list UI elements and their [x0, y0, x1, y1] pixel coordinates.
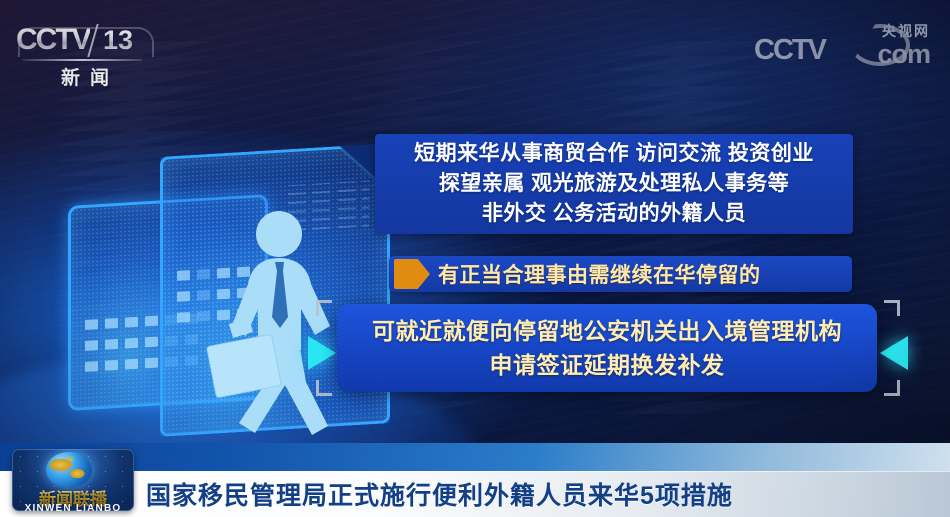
cctv-com-domain: com — [877, 39, 930, 70]
arrow-marker-icon — [394, 259, 430, 289]
cyan-arrow-left-icon — [880, 336, 908, 370]
panel-a-line-2: 探望亲属 观光旅游及处理私人事务等 — [439, 169, 789, 199]
info-panel-condition: 有正当合理事由需继续在华停留的 — [389, 256, 852, 292]
banner-top-bar — [0, 443, 950, 471]
channel-number: 13 — [103, 25, 133, 56]
corner-bracket-top-right — [884, 300, 900, 316]
program-name-en: XINWEN LIANBO — [12, 503, 134, 511]
logo-underline — [22, 59, 142, 61]
cctv-com-wordmark: CCTV — [754, 34, 825, 67]
corner-bracket-bottom-left — [316, 380, 332, 396]
info-panel-scope: 短期来华从事商贸合作 访问交流 投资创业 探望亲属 观光旅游及处理私人事务等 非… — [375, 134, 853, 234]
channel-subtitle: 新闻 — [16, 63, 154, 90]
lower-third-banner: 国家移民管理局正式施行便利外籍人员来华5项措施 新闻联播 XINWEN LIAN… — [0, 443, 950, 517]
panel-b-line-1: 有正当合理事由需继续在华停留的 — [438, 259, 761, 289]
globe-icon — [46, 452, 92, 488]
panel-c-line-2: 申请签证延期换发补发 — [490, 348, 725, 383]
channel-number-box: 13 — [87, 24, 141, 57]
panel-c-line-1: 可就近就便向停留地公安机关出入境管理机构 — [372, 314, 842, 349]
info-panel-action: 可就近就便向停留地公安机关出入境管理机构 申请签证延期换发补发 — [337, 304, 877, 392]
corner-bracket-bottom-right — [884, 380, 900, 396]
xinwen-lianbo-logo: 新闻联播 XINWEN LIANBO — [12, 449, 134, 511]
panel-a-line-1: 短期来华从事商贸合作 访问交流 投资创业 — [414, 139, 814, 169]
cctv-com-watermark: 央视网 CCTV com — [754, 20, 932, 72]
corner-bracket-top-left — [316, 300, 332, 316]
banner-headline: 国家移民管理局正式施行便利外籍人员来华5项措施 — [146, 472, 733, 516]
cctv13-channel-logo: CCTV 13 新闻 — [16, 22, 156, 80]
cyan-arrow-right-icon — [308, 336, 336, 370]
broadcast-screenshot: 短期来华从事商贸合作 访问交流 投资创业 探望亲属 观光旅游及处理私人事务等 非… — [0, 0, 950, 517]
panel-a-line-3: 非外交 公务活动的外籍人员 — [482, 199, 746, 229]
